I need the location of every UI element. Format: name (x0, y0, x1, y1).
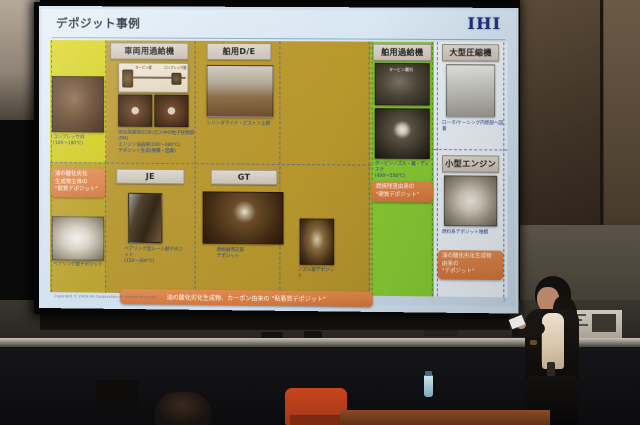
desk-equipment-3 (424, 330, 458, 336)
turbine-disc-photo-right (154, 95, 188, 127)
callout-oil-origin-deposit: 油の酸化劣化生成物 由来の "デポジット" (438, 250, 503, 280)
projection-screen-frame: デポジット事例 IHI コンプレッサ内 (100～180℃) 油の酸化劣化 生成… (34, 2, 518, 314)
orange-chair-base (290, 415, 344, 425)
compressor-impeller-caption: コンプレッサ内 (100～180℃) (53, 135, 105, 147)
slide-copyright: Copyright © 2009 IHI Corporation All Rig… (54, 294, 157, 299)
small-engine-caption: 燃料系デポジット堆積 (442, 230, 503, 237)
header-gas-turbine: GT (211, 169, 278, 185)
section-marine-turbocharger: 舶用過給機 タービン翼列 タービンノズル・翼・ディスク (400～550℃) 燃… (371, 42, 434, 297)
slide-content-grid: コンプレッサ内 (100～180℃) 油の酸化劣化 生成物主体の "軟質デポジッ… (50, 40, 507, 297)
compressor-rotor-photo (446, 64, 495, 117)
turbine-casing-photo: タービン翼列 (375, 63, 430, 106)
bolt-deposit-caption: ノズル部デポジット (298, 268, 339, 280)
turbine-disc-photo-left (118, 94, 152, 126)
presenter-wristwatch (530, 340, 537, 345)
housing-caption: ベアリング部デポジット (53, 262, 105, 268)
header-marine-turbocharger: 舶用過給機 (373, 44, 432, 61)
section-main-tan-panel: 車両用過給機 舶用D/E JE GT タービン翼 コンプレッサ翼 (106, 40, 371, 295)
header-jet-engine: JE (116, 169, 184, 185)
sticky-deposit-banner: 油の酸化劣化生成物、カーボン由来の "粘着質デポジット" (120, 289, 373, 307)
water-bottle (424, 375, 433, 397)
turbine-wheel-photo (375, 108, 430, 159)
section-compressor-and-small-engine: 大型圧縮機 ロータ/ケーシング内壁部へ固着 小型エンジン 燃料系デポジット堆積 … (434, 42, 508, 297)
gas-turbine-combustor-photo (203, 191, 284, 244)
slide-page-number: 7 (503, 298, 506, 303)
gas-turbine-caption: 燃焼器周辺部 デポジット (217, 248, 272, 260)
water-bottle-cap (425, 371, 432, 376)
audience-silhouette (155, 392, 211, 425)
marine-turbocharger-caption: タービンノズル・翼・ディスク (400～550℃) (375, 162, 432, 180)
presentation-slide: デポジット事例 IHI コンプレッサ内 (100～180℃) 油の酸化劣化 生成… (42, 9, 516, 306)
small-engine-part-photo (444, 175, 497, 226)
header-marine-diesel-engine: 舶用D/E (207, 43, 272, 60)
bolt-deposit-photo (300, 218, 334, 265)
compressor-impeller-photo (52, 76, 104, 132)
standing-presenter (519, 276, 591, 425)
housing-photo (52, 216, 104, 261)
turbine-blade-row-label: タービン翼列 (389, 67, 413, 72)
projection-screen: デポジット事例 IHI コンプレッサ内 (100～180℃) 油の酸化劣化 生成… (39, 6, 519, 314)
large-compressor-caption: ロータ/ケーシング内壁部へ固着 (442, 121, 503, 133)
header-small-engine: 小型エンジン (442, 155, 499, 173)
desk-equipment-2 (304, 331, 322, 338)
jet-engine-caption: ベアリング室シール部デポジット (150～300℃) (124, 247, 186, 265)
front-desk (340, 410, 550, 425)
header-large-compressor: 大型圧縮機 (442, 44, 499, 61)
callout-hard-deposit: 燃焼残渣由来の "硬質デポジット" (372, 181, 433, 203)
vehicle-turbocharger-caption: 排気再循環(EGR)ガス中の粒子状物質(PM) エンジン油由来(100～180℃… (118, 131, 198, 155)
ihi-logo: IHI (467, 14, 501, 33)
jet-engine-seal-photo (128, 193, 162, 243)
callout-soft-deposit: 油の酸化劣化 生成物主体の "軟質デポジット" (51, 168, 105, 198)
marine-diesel-caption: シリンダライナ・ピストン上部 (207, 121, 278, 127)
turbocharger-cross-section-diagram: タービン翼 コンプレッサ翼 (118, 62, 188, 92)
header-vehicle-turbocharger: 車両用過給機 (110, 42, 188, 59)
section-vehicle-turbocharger-accent: コンプレッサ内 (100～180℃) 油の酸化劣化 生成物主体の "軟質デポジッ… (50, 40, 106, 293)
lecture-room: デポジット事例 IHI コンプレッサ内 (100～180℃) 油の酸化劣化 生成… (0, 0, 640, 425)
slide-header: デポジット事例 IHI (42, 9, 516, 41)
front-equipment-case (96, 380, 138, 410)
cylinder-liner-photo (207, 65, 274, 118)
slide-title: デポジット事例 (56, 15, 140, 31)
